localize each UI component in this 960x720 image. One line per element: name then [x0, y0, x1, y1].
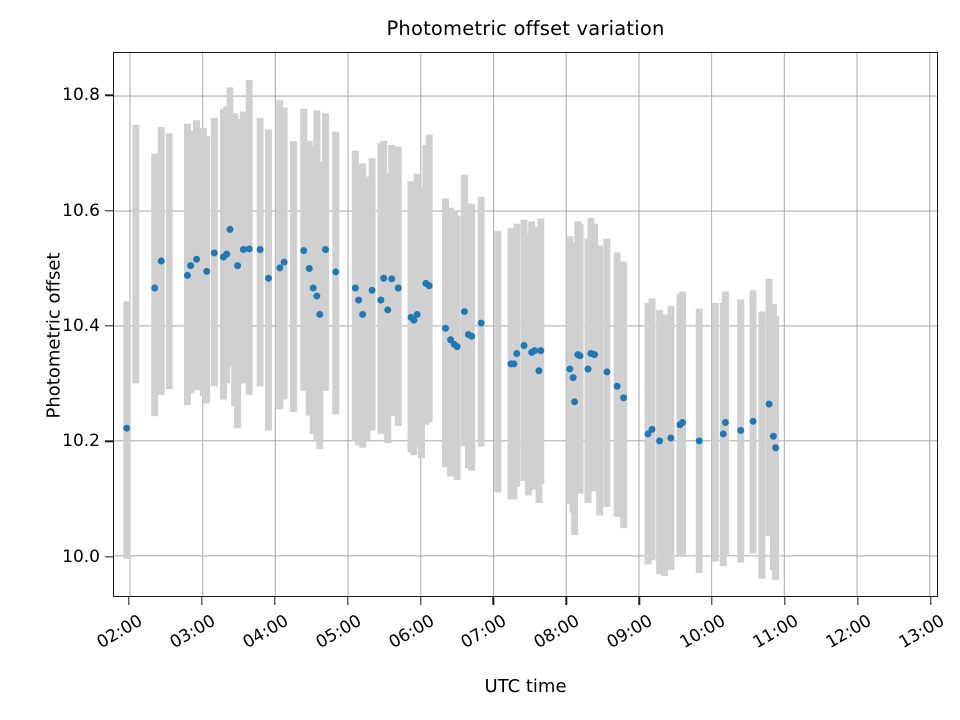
errorbar: [758, 312, 765, 579]
data-point: [577, 352, 584, 359]
data-point: [123, 425, 130, 432]
data-point: [203, 268, 210, 275]
figure: Photometric offset variation Photometric…: [0, 0, 960, 720]
data-point: [226, 226, 233, 233]
y-tick-mark: [105, 95, 113, 96]
data-point: [187, 262, 194, 269]
y-tick-label: 10.0: [62, 547, 100, 567]
y-tick-mark: [105, 210, 113, 211]
data-point: [679, 419, 686, 426]
data-point: [352, 285, 359, 292]
data-point: [442, 325, 449, 332]
x-tick-label: 09:00: [604, 611, 656, 653]
data-point: [300, 247, 307, 254]
data-point: [388, 275, 395, 282]
data-point: [667, 434, 674, 441]
data-point: [414, 311, 421, 318]
errorbar: [426, 135, 433, 423]
data-point: [306, 265, 313, 272]
data-point: [257, 246, 264, 253]
x-tick-label: 03:00: [166, 611, 218, 653]
x-tick-mark: [128, 597, 129, 605]
data-point: [395, 285, 402, 292]
data-point: [193, 256, 200, 263]
data-point: [566, 366, 573, 373]
data-point: [426, 282, 433, 289]
data-point: [322, 246, 329, 253]
data-point: [223, 251, 230, 258]
data-point: [377, 297, 384, 304]
data-point: [535, 367, 542, 374]
data-point: [537, 347, 544, 354]
errorbar: [166, 133, 173, 389]
y-tick-label: 10.6: [62, 201, 100, 221]
data-point: [720, 430, 727, 437]
x-tick-mark: [638, 597, 639, 605]
y-tick-mark: [105, 556, 113, 557]
x-tick-mark: [347, 597, 348, 605]
errorbar: [525, 234, 532, 495]
chart-title: Photometric offset variation: [113, 17, 938, 40]
data-point: [656, 437, 663, 444]
x-tick-label: 10:00: [677, 611, 729, 653]
data-point: [265, 275, 272, 282]
y-tick-mark: [105, 325, 113, 326]
data-point: [369, 287, 376, 294]
data-point: [521, 342, 528, 349]
data-point: [649, 426, 656, 433]
data-point: [614, 383, 621, 390]
x-tick-mark: [493, 597, 494, 605]
errorbar: [661, 314, 668, 575]
data-point: [585, 366, 592, 373]
data-point: [510, 360, 517, 367]
data-point: [234, 262, 241, 269]
data-point: [184, 272, 191, 279]
x-axis-label: UTC time: [113, 676, 938, 697]
data-point: [571, 398, 578, 405]
data-point: [591, 351, 598, 358]
data-point: [316, 311, 323, 318]
errorbar: [231, 113, 238, 406]
x-tick-label: 11:00: [750, 611, 802, 653]
x-tick-mark: [711, 597, 712, 605]
errorbar: [712, 303, 719, 562]
data-point: [454, 343, 461, 350]
data-point: [380, 275, 387, 282]
data-point: [211, 249, 218, 256]
data-point: [246, 245, 253, 252]
errorbar-series: [123, 80, 779, 580]
errorbar: [596, 245, 603, 515]
errorbar: [200, 128, 207, 396]
errorbar: [132, 125, 139, 384]
data-point: [620, 394, 627, 401]
data-point: [478, 320, 485, 327]
x-tick-mark: [857, 597, 858, 605]
data-point: [276, 264, 283, 271]
data-point: [737, 427, 744, 434]
errorbar: [494, 231, 501, 492]
data-point: [313, 293, 320, 300]
data-point: [355, 297, 362, 304]
data-point: [151, 285, 158, 292]
x-tick-mark: [274, 597, 275, 605]
x-tick-label: 06:00: [385, 611, 437, 653]
x-tick-mark: [784, 597, 785, 605]
data-point: [531, 347, 538, 354]
data-point: [310, 285, 317, 292]
data-point: [359, 311, 366, 318]
data-point: [750, 418, 757, 425]
x-tick-label: 05:00: [312, 611, 364, 653]
data-point: [513, 350, 520, 357]
y-tick-mark: [105, 441, 113, 442]
errorbar: [281, 108, 288, 400]
data-point: [158, 258, 165, 265]
x-tick-label: 08:00: [531, 611, 583, 653]
y-axis-tick-labels: 10.010.210.410.610.8: [0, 0, 100, 720]
data-point: [570, 374, 577, 381]
data-point: [468, 333, 475, 340]
errorbar: [418, 188, 425, 458]
x-tick-mark: [201, 597, 202, 605]
x-tick-mark: [420, 597, 421, 605]
data-point: [603, 368, 610, 375]
data-point: [384, 306, 391, 313]
x-tick-label: 02:00: [94, 611, 146, 653]
y-tick-label: 10.4: [62, 316, 100, 336]
errorbar: [290, 141, 297, 412]
data-point: [766, 401, 773, 408]
x-tick-label: 13:00: [895, 611, 947, 653]
data-point: [281, 259, 288, 266]
data-point: [772, 444, 779, 451]
data-point: [332, 268, 339, 275]
data-point: [770, 433, 777, 440]
y-tick-label: 10.2: [62, 431, 100, 451]
data-point: [696, 437, 703, 444]
data-point: [722, 419, 729, 426]
plot-area: [113, 52, 938, 597]
errorbar: [246, 80, 253, 395]
x-tick-label: 07:00: [458, 611, 510, 653]
x-tick-mark: [566, 597, 567, 605]
y-tick-label: 10.8: [62, 85, 100, 105]
errorbar: [364, 177, 371, 441]
x-tick-label: 12:00: [822, 611, 874, 653]
x-tick-label: 04:00: [239, 611, 291, 653]
plot-canvas: [114, 53, 937, 596]
errorbar: [193, 120, 200, 390]
data-point: [461, 308, 468, 315]
x-tick-mark: [930, 597, 931, 605]
